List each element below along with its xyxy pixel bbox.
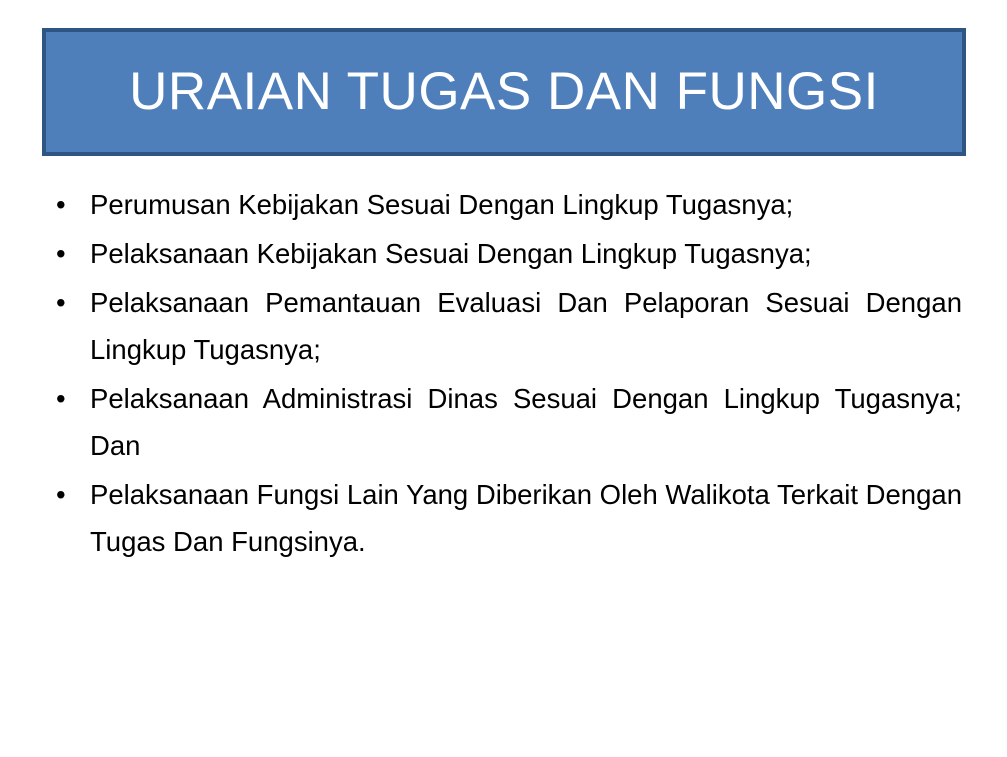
bullet-marker-icon: • (56, 230, 76, 277)
title-banner: URAIAN TUGAS DAN FUNGSI (42, 28, 966, 156)
list-item-label: Pelaksanaan Administrasi Dinas Sesuai De… (90, 375, 962, 469)
bullet-list: • Perumusan Kebijakan Sesuai Dengan Ling… (42, 181, 962, 567)
list-item: • Pelaksanaan Fungsi Lain Yang Diberikan… (42, 471, 962, 565)
list-item-label: Pelaksanaan Fungsi Lain Yang Diberikan O… (90, 471, 962, 565)
bullet-marker-icon: • (56, 279, 76, 326)
bullet-marker-icon: • (56, 375, 76, 422)
bullet-marker-icon: • (56, 181, 76, 228)
bullet-marker-icon: • (56, 471, 76, 518)
list-item-label: Pelaksanaan Kebijakan Sesuai Dengan Ling… (90, 230, 962, 277)
slide-canvas: URAIAN TUGAS DAN FUNGSI • Perumusan Kebi… (0, 0, 1007, 757)
list-item: • Pelaksanaan Administrasi Dinas Sesuai … (42, 375, 962, 469)
list-item-label: Pelaksanaan Pemantauan Evaluasi Dan Pela… (90, 279, 962, 373)
list-item-label: Perumusan Kebijakan Sesuai Dengan Lingku… (90, 181, 962, 228)
list-item: • Pelaksanaan Kebijakan Sesuai Dengan Li… (42, 230, 962, 277)
list-item: • Pelaksanaan Pemantauan Evaluasi Dan Pe… (42, 279, 962, 373)
page-title: URAIAN TUGAS DAN FUNGSI (129, 64, 879, 120)
list-item: • Perumusan Kebijakan Sesuai Dengan Ling… (42, 181, 962, 228)
